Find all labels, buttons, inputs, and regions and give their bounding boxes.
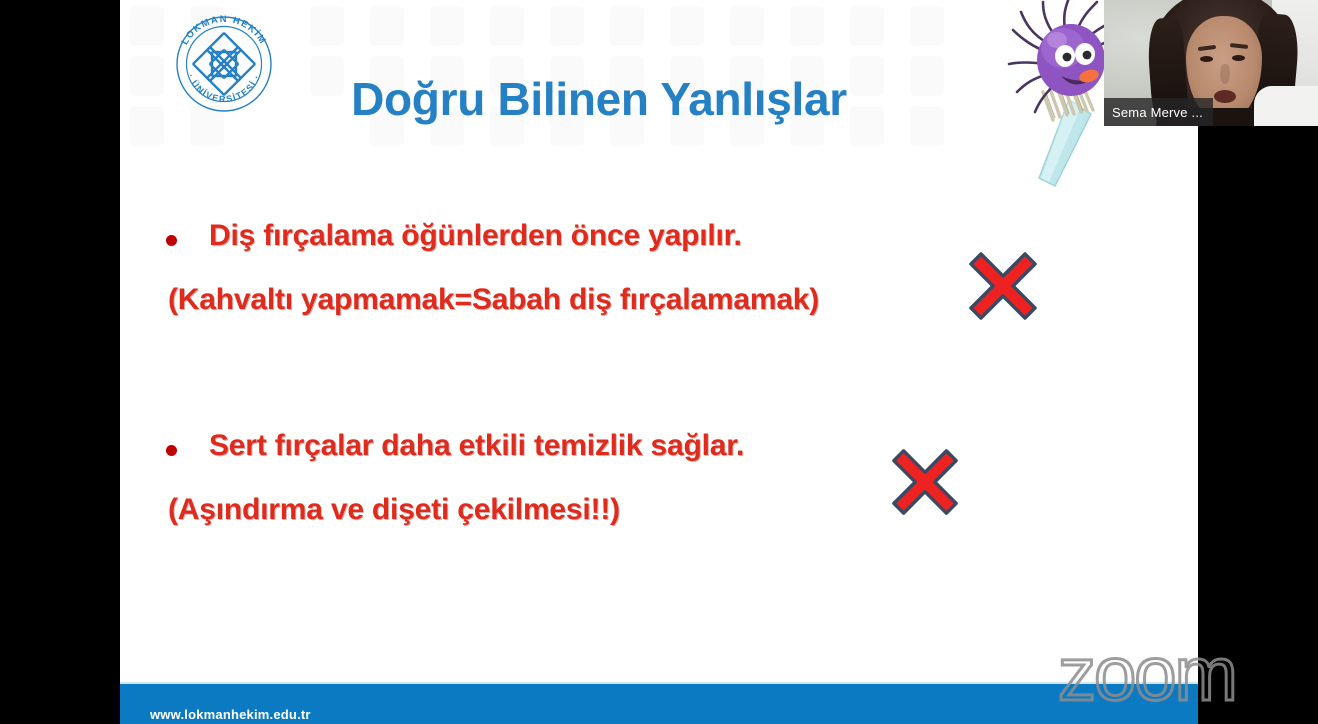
sub-line-2: (Aşındırma ve dişeti çekilmesi!!) [120, 492, 1198, 529]
red-x-mark-icon-2 [890, 447, 960, 517]
participant-video-thumbnail[interactable]: Sema Merve ... [1104, 0, 1318, 126]
bullet-text-2: Sert fırçalar daha etkili temizlik sağla… [209, 428, 744, 465]
zoom-meeting-window: LOKMAN HEKİM · ÜNİVERSİTESİ · Doğru Bili… [0, 0, 1318, 724]
participant-eye-right [1232, 55, 1245, 61]
bullet-text-1: Diş fırçalama öğünlerden önce yapılır. [209, 218, 742, 255]
shared-slide[interactable]: LOKMAN HEKİM · ÜNİVERSİTESİ · Doğru Bili… [120, 0, 1198, 724]
bullet-dot-icon [166, 235, 177, 246]
footer-url: www.lokmanhekim.edu.tr [150, 707, 311, 722]
participant-nose [1220, 64, 1230, 84]
bullet-row-2: Sert fırçalar daha etkili temizlik sağla… [120, 428, 1198, 465]
participant-shirt [1254, 86, 1318, 126]
participant-name-label: Sema Merve ... [1104, 98, 1213, 126]
svg-text:LOKMAN HEKİM: LOKMAN HEKİM [179, 13, 270, 46]
bullet-dot-icon [166, 445, 177, 456]
participant-mouth [1214, 90, 1236, 103]
red-x-mark-icon-1 [967, 250, 1039, 322]
participant-eye-left [1200, 56, 1213, 62]
slide-footer-bar: www.lokmanhekim.edu.tr [120, 682, 1198, 724]
wrong-belief-item-2: Sert fırçalar daha etkili temizlik sağla… [120, 428, 1198, 528]
